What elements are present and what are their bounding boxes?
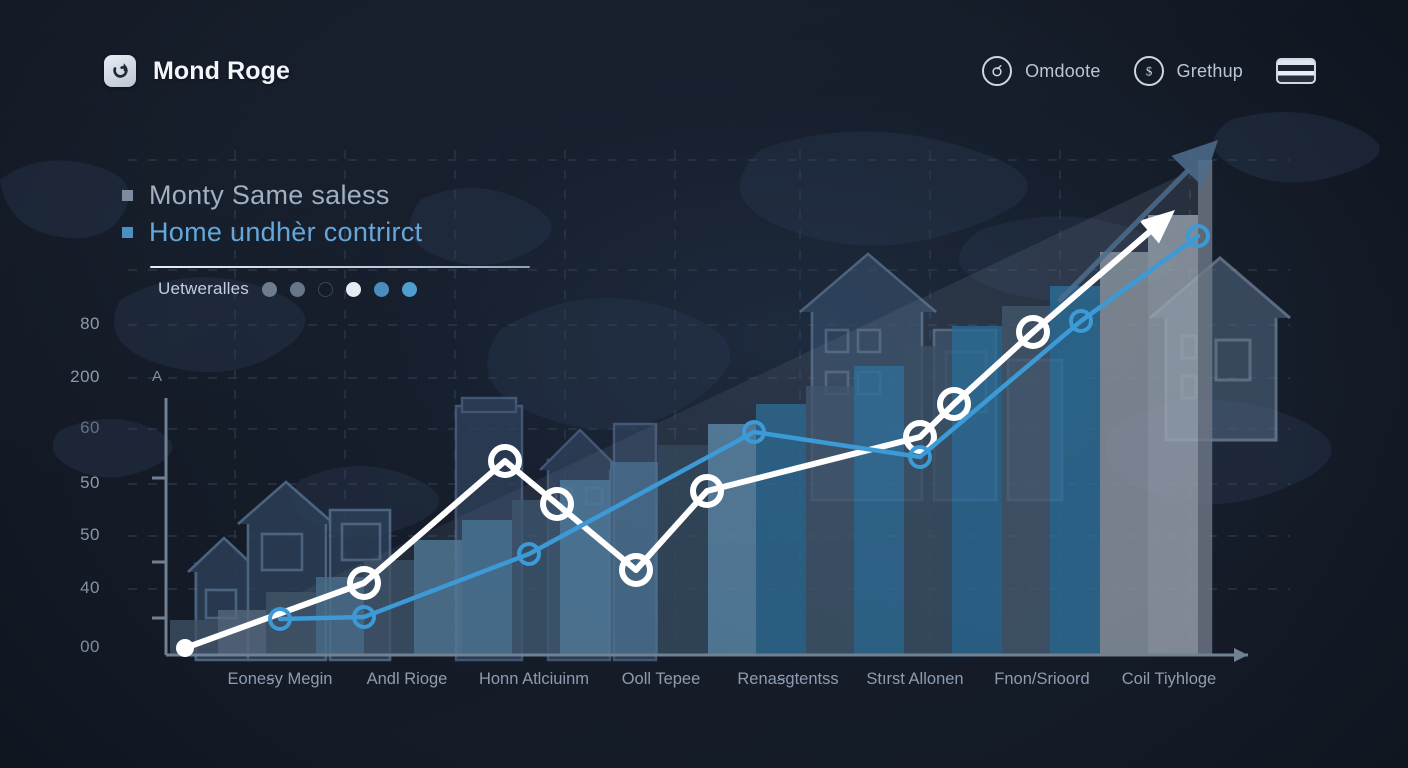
swatch-row: Uetweralles [158,279,530,299]
legend-label: Monty Same saless [149,180,390,211]
brand[interactable]: Mond Roge [104,55,290,87]
swirl-logo-icon [104,55,136,87]
swatch-row-label: Uetweralles [158,279,249,299]
bar[interactable] [560,480,610,655]
bar[interactable] [512,500,560,655]
bar[interactable] [952,326,1002,655]
legend-swatch-icon [122,227,133,238]
bar[interactable] [462,520,512,655]
header-action-label: Omdoote [1025,61,1100,82]
x-tick-label: Eoneꞩy Megin [228,670,333,688]
swatch-dot[interactable] [290,282,305,297]
x-tick-label: Ooll Tepee [622,670,701,688]
bar[interactable] [1100,252,1148,655]
app-header: Mond Roge Omdoote $ Grethup [0,0,1408,140]
svg-text:$: $ [1145,65,1151,79]
swatch-dot[interactable] [346,282,361,297]
header-action-label: Grethup [1177,61,1243,82]
dollar-circle-icon: $ [1134,56,1164,86]
x-tick-label: Coil Tiyhloge [1122,670,1216,688]
swatch-dot[interactable] [374,282,389,297]
brand-title: Mond Roge [153,57,290,86]
bar[interactable] [1148,215,1198,655]
bar[interactable] [1002,306,1050,655]
axis-marker-a: A [152,368,162,385]
x-tick-label: Renaꞩgtentss [737,670,838,688]
legend-swatch-icon [122,190,133,201]
circle-arrow-icon [982,56,1012,86]
swatch-dot[interactable] [262,282,277,297]
bar[interactable] [756,404,806,655]
x-tick-label: Andl Rioge [367,670,448,688]
x-tick-label: Stırst Allonen [866,670,963,688]
bar[interactable] [708,424,756,655]
x-axis-labels: Eoneꞩy MeginAndl RiogeHonn AtlciuinmOoll… [228,670,1217,688]
legend-item-0[interactable]: Monty Same saless [122,180,530,211]
app-canvas: Mond Roge Omdoote $ Grethup [0,0,1408,768]
header-action-grethup[interactable]: $ Grethup [1134,56,1243,86]
chart-legend: Monty Same saless Home undhèr contrirct … [122,180,530,299]
data-point-marker[interactable] [176,639,194,657]
header-actions: Omdoote $ Grethup [982,56,1316,86]
legend-item-1[interactable]: Home undhèr contrirct [122,217,530,248]
header-action-omdoote[interactable]: Omdoote [982,56,1100,86]
swatch-dot[interactable] [318,282,333,297]
legend-label: Home undhèr contrirct [149,217,422,248]
credit-card-icon[interactable] [1276,58,1316,84]
x-tick-label: Fnon/Srioord [994,670,1089,688]
bar[interactable] [1198,160,1212,655]
legend-divider [150,266,530,268]
bar[interactable] [806,386,854,655]
x-tick-label: Honn Atlciuinm [479,670,589,688]
swatch-dot[interactable] [402,282,417,297]
bar[interactable] [854,366,904,655]
